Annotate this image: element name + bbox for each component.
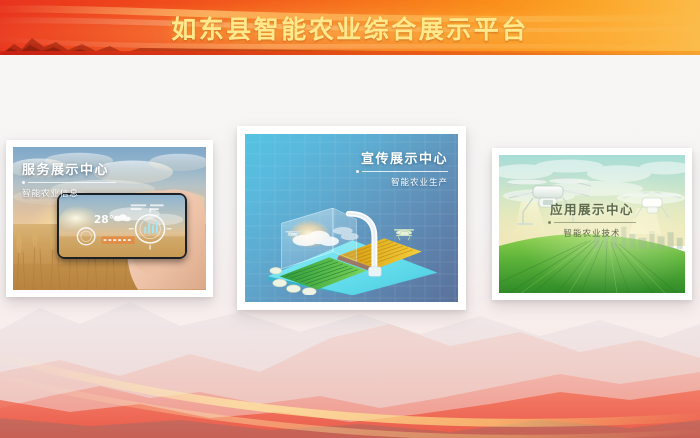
caption-dot-icon bbox=[356, 170, 359, 173]
svg-text:28°: 28° bbox=[94, 214, 114, 226]
caption-dot-icon bbox=[22, 181, 25, 184]
caption-rule bbox=[28, 182, 116, 183]
card-promotion-caption: 宣传展示中心 智能农业生产 bbox=[356, 148, 448, 188]
caption-rule bbox=[362, 171, 448, 172]
card-service-title: 服务展示中心 bbox=[22, 159, 116, 178]
card-service-subtitle: 智能农业信息 bbox=[22, 187, 116, 199]
card-application-center[interactable]: 应用展示中心 智能农业技术 bbox=[492, 148, 692, 300]
header-banner: 如东县智能农业综合展示平台 bbox=[0, 0, 700, 55]
caption-dot-icon bbox=[548, 221, 551, 224]
card-service-caption: 服务展示中心 智能农业信息 bbox=[22, 159, 116, 199]
smartphone: 28° bbox=[57, 193, 187, 259]
page-title: 如东县智能农业综合展示平台 bbox=[0, 0, 700, 55]
card-application-photo: 应用展示中心 智能农业技术 bbox=[499, 155, 685, 293]
card-service-photo: 28° bbox=[13, 147, 206, 290]
card-promotion-center[interactable]: 宣传展示中心 智能农业生产 bbox=[237, 126, 466, 310]
card-service-center[interactable]: 28° bbox=[6, 140, 213, 297]
card-promotion-subtitle: 智能农业生产 bbox=[356, 176, 448, 188]
card-application-caption: 应用展示中心 智能农业技术 bbox=[499, 199, 685, 239]
card-application-subtitle: 智能农业技术 bbox=[499, 227, 685, 239]
card-application-title: 应用展示中心 bbox=[499, 199, 685, 218]
isometric-farm-scene bbox=[258, 208, 445, 295]
phone-screen: 28° bbox=[59, 195, 185, 257]
drone-right-icon bbox=[394, 230, 414, 240]
app-root: 如东县智能农业综合展示平台 bbox=[0, 0, 700, 438]
card-promotion-title: 宣传展示中心 bbox=[356, 148, 448, 167]
card-promotion-photo: 宣传展示中心 智能农业生产 bbox=[245, 134, 458, 302]
caption-rule bbox=[554, 222, 636, 223]
light-ribbon-streak bbox=[0, 288, 700, 438]
